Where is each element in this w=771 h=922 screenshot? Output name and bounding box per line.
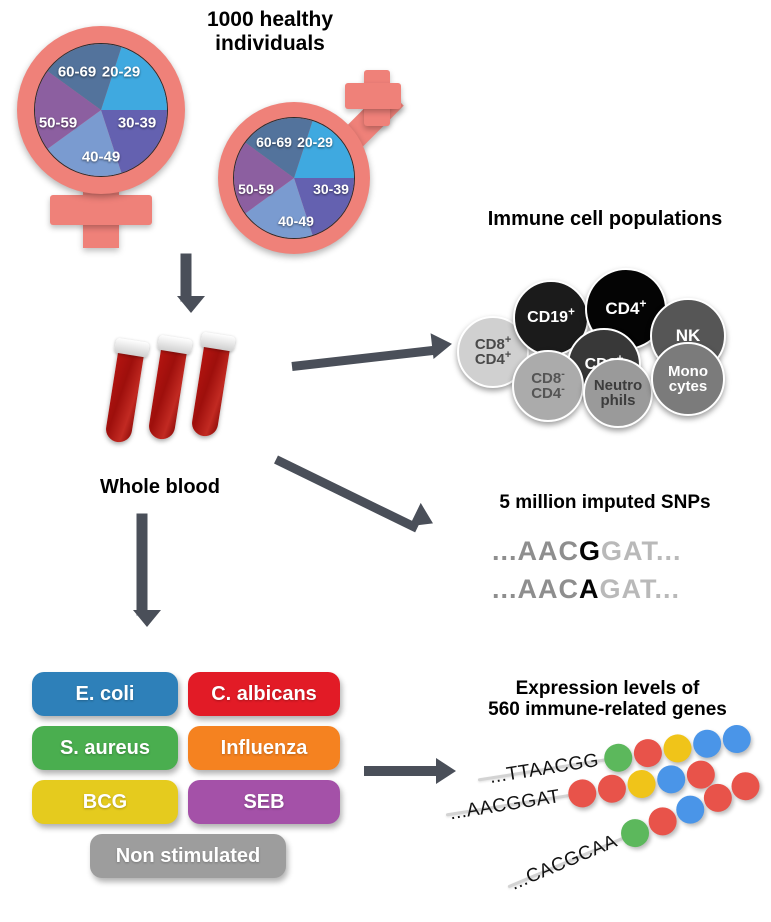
immune-cell-label: CD8+CD4+ [475,337,511,368]
stimulus-label: BCG [83,791,127,814]
pie-label-50-59: 50-59 [39,115,77,132]
female-symbol: 20-29 30-39 40-49 50-59 60-69 [8,18,193,248]
immune-cell-neutrophils: Neutrophils [583,358,653,428]
expression-title: Expression levels of 560 immune-related … [450,678,765,721]
strand-sequence: ...AACGGAT [448,786,561,825]
immune-cell-cluster: CD8+CD4+ CD19+ CD4+ NK CD8+ CD8-CD4- Neu… [455,240,755,420]
arrow-head-icon [133,610,161,627]
snp-suffix: GAT... [600,574,681,604]
stimulus-label: Influenza [221,737,308,760]
pie-label-50-59: 50-59 [238,181,274,197]
stimulus-label: E. coli [76,683,135,706]
arrow-shaft [364,766,438,776]
expression-bead [632,737,664,769]
immune-cell-cd8n-cd4n: CD8-CD4- [512,350,584,422]
male-symbol: 20-29 30-39 40-49 50-59 60-69 [198,80,413,255]
stimulus-seb[interactable]: SEB [188,780,340,824]
immune-cell-label: CD19+ [527,310,575,326]
pie-label-60-69: 60-69 [58,64,96,81]
snp-allele-row: ...AACGGAT... [492,536,682,567]
strand-sequence: ...CACGCAA [507,831,620,896]
expression-bead [596,773,628,805]
pie-label-60-69: 60-69 [256,134,292,150]
cohort-title-line1: 1000 healthy [170,8,370,32]
arrow-head-icon [177,296,205,313]
blood-tube [190,343,230,438]
immune-cell-label: Neutrophils [594,378,642,409]
cohort-title-line2: individuals [170,32,370,56]
stimuli-panel: E. coli C. albicans S. aureus Influenza … [30,672,350,900]
snp-sequences: ...AACGGAT... ...AACAGAT... [480,530,750,610]
pie-label-40-49: 40-49 [278,213,314,229]
whole-blood-tubes [100,342,230,452]
stimulus-label: S. aureus [60,737,150,760]
expression-title-line2: 560 immune-related genes [450,699,765,720]
expression-bead [655,763,687,795]
pie-label-20-29: 20-29 [297,134,333,150]
stimulus-c-albicans[interactable]: C. albicans [188,672,340,716]
cohort-title: 1000 healthy individuals [170,8,370,55]
pie-label-30-39: 30-39 [118,115,156,132]
pie-label-20-29: 20-29 [102,64,140,81]
snp-suffix: GAT... [601,536,682,566]
tube-body [147,346,187,441]
male-symbol-arrow-head-b [345,83,401,109]
expression-bead [566,777,598,809]
immune-cell-populations-title: Immune cell populations [450,208,760,230]
expression-bead [626,768,658,800]
whole-blood-label: Whole blood [60,476,260,498]
arrow-shaft [291,346,437,371]
stimulus-e-coli[interactable]: E. coli [32,672,178,716]
expression-bead [661,732,693,764]
female-symbol-crossbar [50,195,152,225]
expression-bead [727,768,764,805]
arrow-head-icon [431,331,454,359]
snp-variant-base: A [579,574,600,604]
pie-label-30-39: 30-39 [313,181,349,197]
expression-bead [602,742,634,774]
tube-body [104,349,144,444]
stimulus-bcg[interactable]: BCG [32,780,178,824]
immune-cell-label: CD8-CD4- [531,371,565,402]
snp-allele-row: ...AACAGAT... [492,574,680,605]
immune-cell-label: CD4+ [605,300,646,317]
arrow-shaft [181,254,192,302]
arrow-shaft [274,455,419,532]
snps-title: 5 million imputed SNPs [455,492,755,513]
stimulus-label: Non stimulated [116,845,260,868]
immune-cell-monocytes: Monocytes [651,342,725,416]
dna-strands: ...TTAACGG ...AACGGAT ...CACGCAA [452,740,762,910]
arrow-shaft [137,514,148,616]
blood-tube [104,349,144,444]
pie-label-40-49: 40-49 [82,149,120,166]
stimulus-influenza[interactable]: Influenza [188,726,340,770]
tube-body [190,343,230,438]
expression-title-line1: Expression levels of [450,678,765,699]
snp-prefix: ...AAC [492,574,579,604]
expression-bead [691,728,723,760]
immune-cell-label: Monocytes [668,364,708,395]
snp-variant-base: G [579,536,601,566]
stimulus-label: SEB [243,791,284,814]
stimulus-s-aureus[interactable]: S. aureus [32,726,178,770]
snp-prefix: ...AAC [492,536,579,566]
stimulus-label: C. albicans [211,683,317,706]
stimulus-non-stimulated[interactable]: Non stimulated [90,834,286,878]
blood-tube [147,346,187,441]
expression-bead [721,723,753,755]
